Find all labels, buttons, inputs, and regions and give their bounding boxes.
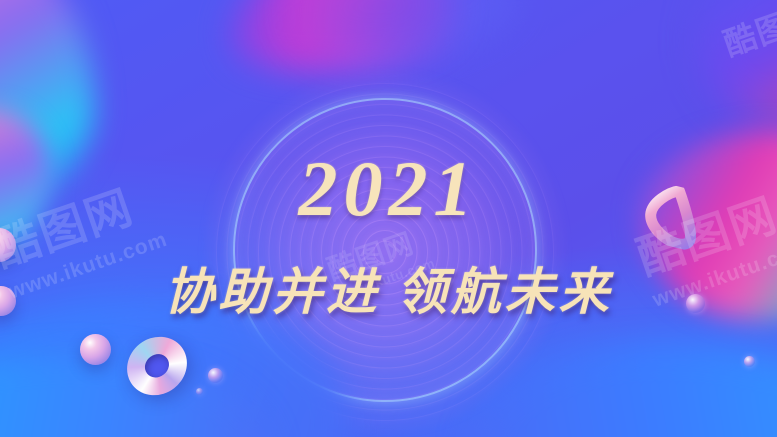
bubble-small <box>208 368 223 383</box>
poster-canvas: 酷图网 www.ikutu.com 酷图网 www.ikutu.com 酷图网 … <box>0 0 777 437</box>
torus-hole <box>140 350 173 383</box>
page-subtitle: 协助并进 领航未来 <box>0 252 777 324</box>
page-title: 2021 <box>0 150 777 228</box>
bubble-right-small <box>744 356 755 367</box>
bubble-tiny <box>196 388 203 395</box>
sphere-bottom-left <box>80 334 111 365</box>
